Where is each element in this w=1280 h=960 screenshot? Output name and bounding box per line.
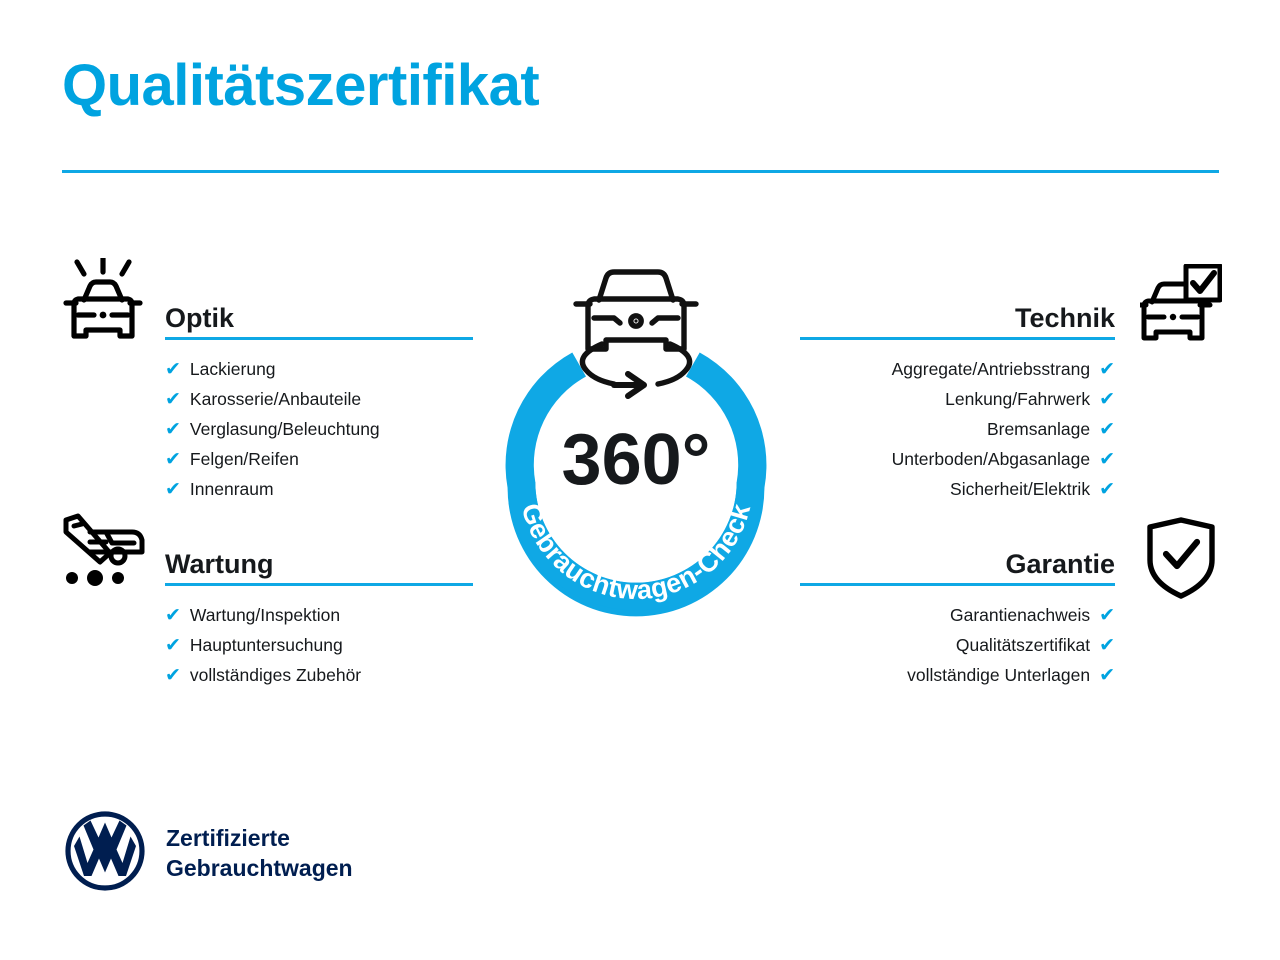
list-item: Garantienachweis✔: [800, 600, 1115, 630]
check-icon: ✔: [1099, 390, 1115, 409]
list-item: Qualitätszertifikat✔: [800, 630, 1115, 660]
list-item-label: Wartung/Inspektion: [190, 600, 340, 630]
list-item: ✔Karosserie/Anbauteile: [165, 384, 473, 414]
checklist-technik: Aggregate/Antriebsstrang✔ Lenkung/Fahrwe…: [800, 354, 1115, 504]
list-item-label: Karosserie/Anbauteile: [190, 384, 361, 414]
section-title-garantie: Garantie: [1005, 549, 1115, 580]
list-item-label: vollständige Unterlagen: [907, 660, 1090, 690]
list-item-label: Hauptuntersuchung: [190, 630, 343, 660]
list-item-label: vollständiges Zubehör: [190, 660, 361, 690]
list-item-label: Verglasung/Beleuchtung: [190, 414, 380, 444]
checklist-optik: ✔Lackierung ✔Karosserie/Anbauteile ✔Verg…: [165, 354, 473, 504]
vw-footer-line2: Gebrauchtwagen: [166, 855, 353, 881]
section-underline: [800, 337, 1115, 340]
section-title-wartung: Wartung: [165, 549, 273, 580]
section-header: Technik: [800, 296, 1115, 340]
list-item: Sicherheit/Elektrik✔: [800, 474, 1115, 504]
badge-360-check: Gebrauchtwagen-Check 360°: [455, 252, 817, 632]
vw-footer-line1: Zertifizierte: [166, 825, 290, 851]
list-item-label: Aggregate/Antriebsstrang: [892, 354, 1090, 384]
list-item: Bremsanlage✔: [800, 414, 1115, 444]
check-icon: ✔: [1099, 480, 1115, 499]
vw-certified-footer: Zertifizierte Gebrauchtwagen: [64, 810, 353, 897]
section-optik: Optik ✔Lackierung ✔Karosserie/Anbauteile…: [165, 296, 473, 504]
list-item-label: Lackierung: [190, 354, 276, 384]
check-icon: ✔: [165, 450, 181, 469]
vw-footer-text: Zertifizierte Gebrauchtwagen: [166, 824, 353, 883]
check-icon: ✔: [165, 420, 181, 439]
page-title: Qualitätszertifikat: [62, 56, 539, 117]
check-icon: ✔: [165, 360, 181, 379]
list-item: ✔Hauptuntersuchung: [165, 630, 473, 660]
list-item-label: Qualitätszertifikat: [956, 630, 1090, 660]
check-icon: ✔: [1099, 666, 1115, 685]
section-header: Garantie: [800, 542, 1115, 586]
list-item-label: Innenraum: [190, 474, 274, 504]
check-icon: ✔: [1099, 636, 1115, 655]
car-front-checkbox-icon: [1140, 264, 1222, 349]
checklist-garantie: Garantienachweis✔ Qualitätszertifikat✔ v…: [800, 600, 1115, 690]
list-item-label: Garantienachweis: [950, 600, 1090, 630]
list-item: vollständige Unterlagen✔: [800, 660, 1115, 690]
list-item: ✔Wartung/Inspektion: [165, 600, 473, 630]
list-item: ✔Verglasung/Beleuchtung: [165, 414, 473, 444]
badge-center-text: 360°: [562, 420, 711, 500]
check-icon: ✔: [1099, 450, 1115, 469]
check-icon: ✔: [1099, 360, 1115, 379]
check-icon: ✔: [165, 480, 181, 499]
volkswagen-logo: [64, 810, 146, 897]
list-item: Lenkung/Fahrwerk✔: [800, 384, 1115, 414]
section-header: Wartung: [165, 542, 473, 586]
checklist-wartung: ✔Wartung/Inspektion ✔Hauptuntersuchung ✔…: [165, 600, 473, 690]
check-icon: ✔: [165, 666, 181, 685]
list-item-label: Sicherheit/Elektrik: [950, 474, 1090, 504]
car-service-wrench-icon: [60, 512, 150, 597]
section-underline: [165, 583, 473, 586]
list-item: Unterboden/Abgasanlage✔: [800, 444, 1115, 474]
header-divider: [62, 170, 1219, 173]
check-icon: ✔: [165, 606, 181, 625]
check-icon: ✔: [165, 636, 181, 655]
list-item: ✔Innenraum: [165, 474, 473, 504]
check-icon: ✔: [1099, 606, 1115, 625]
section-underline: [800, 583, 1115, 586]
section-wartung: Wartung ✔Wartung/Inspektion ✔Hauptunters…: [165, 542, 473, 690]
list-item: Aggregate/Antriebsstrang✔: [800, 354, 1115, 384]
list-item: ✔Felgen/Reifen: [165, 444, 473, 474]
check-icon: ✔: [1099, 420, 1115, 439]
shield-check-icon: [1146, 516, 1216, 605]
section-header: Optik: [165, 296, 473, 340]
list-item-label: Unterboden/Abgasanlage: [892, 444, 1091, 474]
section-title-optik: Optik: [165, 303, 234, 334]
section-underline: [165, 337, 473, 340]
list-item-label: Felgen/Reifen: [190, 444, 299, 474]
list-item: ✔Lackierung: [165, 354, 473, 384]
certificate-page: Qualitätszertifikat: [0, 0, 1280, 960]
section-garantie: Garantie Garantienachweis✔ Qualitätszert…: [800, 542, 1115, 690]
list-item-label: Bremsanlage: [987, 414, 1090, 444]
list-item-label: Lenkung/Fahrwerk: [945, 384, 1090, 414]
badge-ring-text: Gebrauchtwagen-Check: [515, 500, 756, 606]
section-technik: Technik Aggregate/Antriebsstrang✔ Lenkun…: [800, 296, 1115, 504]
list-item: ✔vollständiges Zubehör: [165, 660, 473, 690]
car-front-shine-icon: [62, 258, 144, 353]
check-icon: ✔: [165, 390, 181, 409]
section-title-technik: Technik: [1015, 303, 1115, 334]
car-rotate-360-icon: [576, 272, 696, 396]
